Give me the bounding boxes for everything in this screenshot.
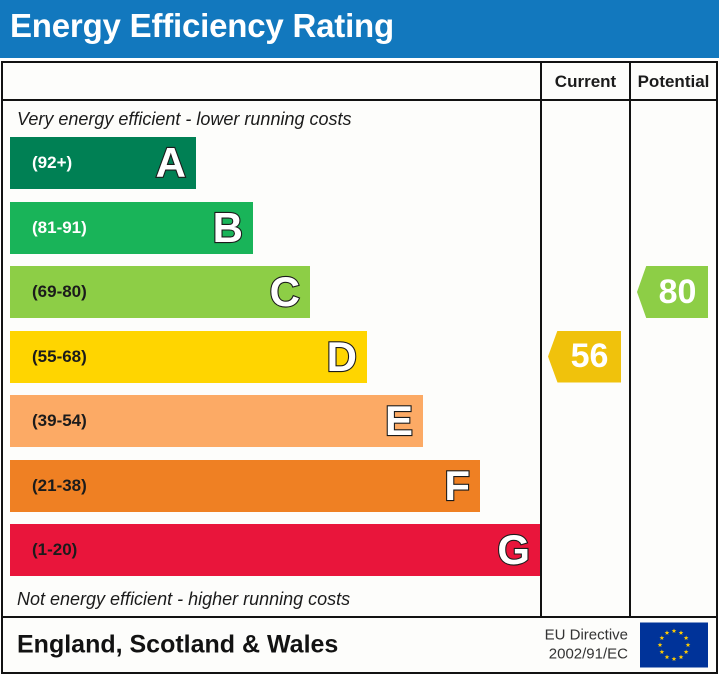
band-letter-g: G [497, 529, 530, 571]
rating-marker-potential: 80 [637, 266, 708, 318]
band-range-e: (39-54) [32, 411, 87, 431]
band-range-f: (21-38) [32, 476, 87, 496]
band-g: (1-20)G [10, 524, 540, 576]
epc-certificate: Energy Efficiency Rating Current Potenti… [0, 0, 719, 675]
band-letter-a: A [156, 142, 186, 184]
column-header-current: Current [540, 63, 629, 101]
rating-table: Current Potential Very energy efficient … [1, 61, 718, 674]
band-letter-d: D [327, 336, 357, 378]
footer: England, Scotland & Wales EU Directive 2… [3, 616, 716, 672]
footer-directive-line1: EU Directive [545, 626, 628, 645]
column-header-row: Current Potential [3, 63, 716, 101]
band-f: (21-38)F [10, 460, 480, 512]
column-divider-current [540, 101, 542, 618]
band-e: (39-54)E [10, 395, 423, 447]
footer-directive-line2: 2002/91/EC [545, 645, 628, 664]
band-letter-b: B [213, 207, 243, 249]
column-divider-potential [629, 101, 631, 618]
caption-inefficient: Not energy efficient - higher running co… [17, 589, 350, 610]
band-a: (92+)A [10, 137, 196, 189]
band-c: (69-80)C [10, 266, 310, 318]
band-letter-c: C [270, 271, 300, 313]
band-letter-f: F [444, 465, 470, 507]
band-range-a: (92+) [32, 153, 72, 173]
band-b: (81-91)B [10, 202, 253, 254]
title-bar: Energy Efficiency Rating [0, 0, 719, 58]
footer-directive: EU Directive 2002/91/EC [545, 626, 628, 664]
page-title: Energy Efficiency Rating [10, 7, 394, 45]
footer-region-label: England, Scotland & Wales [17, 631, 338, 660]
band-d: (55-68)D [10, 331, 367, 383]
caption-efficient: Very energy efficient - lower running co… [17, 109, 352, 130]
band-range-c: (69-80) [32, 282, 87, 302]
band-range-g: (1-20) [32, 540, 77, 560]
rating-value-potential: 80 [659, 273, 697, 312]
eu-flag-icon [640, 623, 708, 668]
rating-value-current: 56 [571, 337, 609, 376]
rating-marker-current: 56 [548, 331, 621, 383]
band-range-d: (55-68) [32, 347, 87, 367]
band-letter-e: E [385, 400, 413, 442]
band-range-b: (81-91) [32, 218, 87, 238]
column-header-potential: Potential [629, 63, 716, 101]
band-chart: (92+)A(81-91)B(69-80)C(55-68)D(39-54)E(2… [3, 137, 540, 587]
